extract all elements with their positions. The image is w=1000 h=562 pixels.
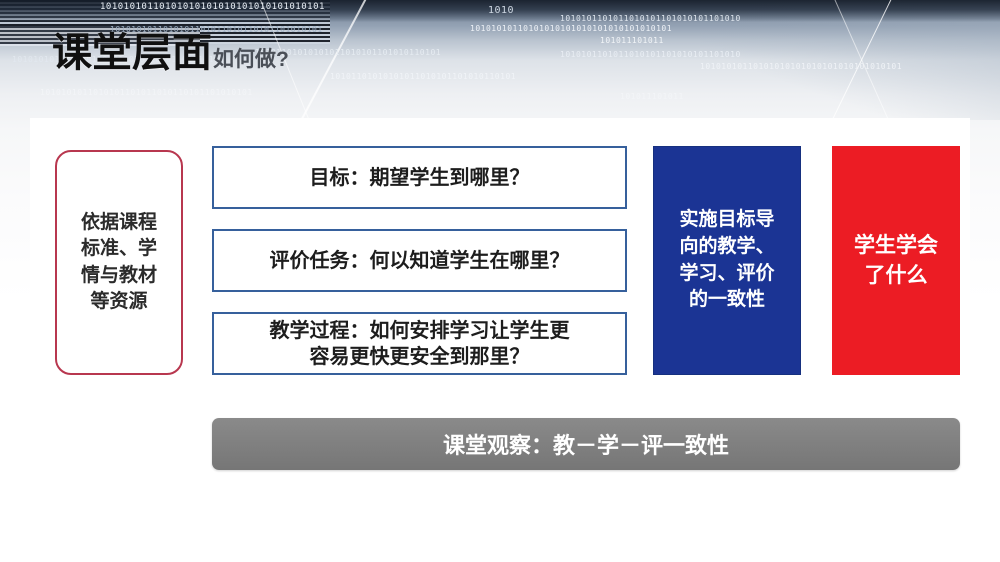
outcome-line: 学生学会 bbox=[854, 231, 938, 261]
consistency-line: 实施目标导 bbox=[679, 207, 774, 234]
page-title: 课堂层面 bbox=[52, 33, 212, 73]
step-node-process-label: 教学过程：如何安排学习让学生更 容易更快更安全到那里？ bbox=[270, 318, 570, 370]
source-node-line: 标准、学 bbox=[81, 236, 157, 262]
foundation-bar[interactable]: 课堂观察：教－学－评一致性 bbox=[212, 418, 960, 470]
source-node-label: 依据课程 标准、学 情与教材 等资源 bbox=[81, 210, 157, 315]
consistency-line: 向的教学、 bbox=[679, 234, 774, 261]
consistency-line: 的一致性 bbox=[679, 287, 774, 314]
source-node-line: 等资源 bbox=[81, 289, 157, 315]
step-node-goal-label: 目标：期望学生到哪里？ bbox=[310, 165, 530, 191]
source-node[interactable]: 依据课程 标准、学 情与教材 等资源 bbox=[55, 150, 183, 375]
outcome-node[interactable]: 学生学会 了什么 bbox=[832, 146, 960, 375]
step-node-process[interactable]: 教学过程：如何安排学习让学生更 容易更快更安全到那里？ bbox=[212, 312, 627, 375]
step-line: 评价任务：何以知道学生在哪里？ bbox=[270, 248, 570, 274]
source-node-line: 情与教材 bbox=[81, 263, 157, 289]
consistency-node-label: 实施目标导 向的教学、 学习、评价 的一致性 bbox=[679, 207, 774, 315]
step-node-assessment-label: 评价任务：何以知道学生在哪里？ bbox=[270, 248, 570, 274]
step-node-assessment[interactable]: 评价任务：何以知道学生在哪里？ bbox=[212, 229, 627, 292]
step-line: 目标：期望学生到哪里？ bbox=[310, 165, 530, 191]
diagram: 依据课程 标准、学 情与教材 等资源 目标：期望学生到哪里？ 评价任务：何以知道… bbox=[0, 0, 1000, 562]
consistency-line: 学习、评价 bbox=[679, 261, 774, 288]
outcome-node-label: 学生学会 了什么 bbox=[854, 231, 938, 291]
outcome-line: 了什么 bbox=[854, 261, 938, 291]
foundation-bar-label: 课堂观察：教－学－评一致性 bbox=[443, 428, 729, 460]
step-node-goal[interactable]: 目标：期望学生到哪里？ bbox=[212, 146, 627, 209]
page-subtitle: 如何做? bbox=[213, 49, 289, 70]
step-line: 容易更快更安全到那里？ bbox=[270, 344, 570, 370]
step-line: 教学过程：如何安排学习让学生更 bbox=[270, 318, 570, 344]
slide-title: 课堂层面 如何做? bbox=[52, 33, 289, 73]
consistency-node[interactable]: 实施目标导 向的教学、 学习、评价 的一致性 bbox=[653, 146, 801, 375]
slide-root: 10101010110101010101010101010101010101 1… bbox=[0, 0, 1000, 562]
source-node-line: 依据课程 bbox=[81, 210, 157, 236]
